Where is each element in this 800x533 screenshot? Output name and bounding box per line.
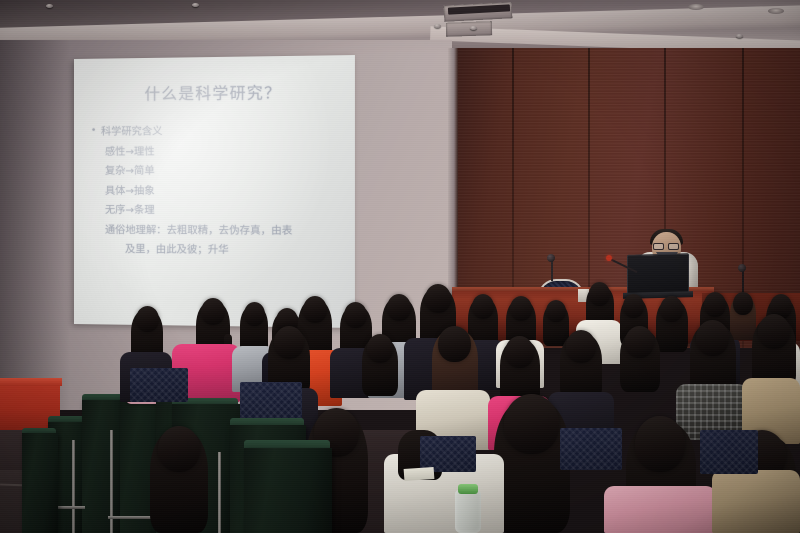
slide-line-1: 科学研究含义 xyxy=(91,121,345,142)
sprinkler-head-5 xyxy=(736,34,743,38)
audience-head xyxy=(387,294,411,321)
audience-head xyxy=(505,336,534,368)
audience-body-tan xyxy=(712,470,800,533)
stage-microphone-stand xyxy=(551,259,553,281)
audience-head xyxy=(696,320,729,356)
chair-leg xyxy=(72,440,75,533)
audience-head xyxy=(344,302,367,328)
microphone-icon xyxy=(547,254,555,262)
audience-head xyxy=(201,298,225,325)
slide-line-7: 及里，由此及彼；升华 xyxy=(91,240,345,261)
slide-title: 什么是科学研究？ xyxy=(74,80,355,105)
photo-scene: 什么是科学研究？ 科学研究含义 感性→理性 复杂→简单 具体→抽象 无序→条理 … xyxy=(0,0,800,533)
microphone-tip-light xyxy=(606,255,612,261)
audience-head xyxy=(425,284,451,313)
sprinkler-head-1 xyxy=(46,4,53,8)
sprinkler-head-3 xyxy=(434,24,441,28)
audience-head xyxy=(733,292,753,315)
chair-seat-pattern[interactable] xyxy=(560,428,622,470)
water-bottle[interactable] xyxy=(455,490,481,533)
projection-screen: 什么是科学研究？ 科学研究含义 感性→理性 复杂→简单 具体→抽象 无序→条理 … xyxy=(74,55,355,328)
chair-empty-4[interactable] xyxy=(22,433,58,533)
bottle-cap[interactable] xyxy=(458,484,478,494)
slide-line-2: 感性→理性 xyxy=(91,141,345,162)
audience-head xyxy=(623,294,644,318)
audience-head xyxy=(472,294,494,319)
stage-platform-left-top xyxy=(0,378,62,386)
audience-head xyxy=(367,334,393,363)
slide-line-4: 具体→抽象 xyxy=(91,181,345,201)
ceiling-downlight-2 xyxy=(768,8,784,14)
audience-head xyxy=(504,394,559,454)
slide-line-6: 通俗地理解：去粗取精，去伪存真，由表 xyxy=(91,221,345,242)
chair-row-near-1[interactable] xyxy=(244,448,332,533)
air-vent-grill-2 xyxy=(446,21,492,37)
chair-seat-pattern[interactable] xyxy=(240,382,302,422)
chair-leg xyxy=(218,452,221,533)
audience-head xyxy=(546,300,566,322)
audience-head xyxy=(244,302,265,326)
audience-head xyxy=(635,416,685,472)
audience-head xyxy=(704,292,726,317)
audience-head xyxy=(758,314,790,349)
audience-body-light-pink xyxy=(604,486,716,533)
speaker-glasses xyxy=(653,243,679,248)
laptop-screen xyxy=(627,253,689,297)
sprinkler-head-4 xyxy=(470,26,477,30)
audience-head xyxy=(660,296,683,322)
audience-head xyxy=(438,326,471,362)
audience-head xyxy=(625,326,654,358)
chair-seat-pattern[interactable] xyxy=(700,430,758,474)
paper-sheet[interactable] xyxy=(404,467,435,481)
slide-line-5: 无序→条理 xyxy=(91,201,345,221)
audience-head xyxy=(158,426,200,472)
audience-head xyxy=(510,296,532,321)
slide-body: 科学研究含义 感性→理性 复杂→简单 具体→抽象 无序→条理 通俗地理解：去粗取… xyxy=(91,121,345,261)
microphone-right-icon xyxy=(738,264,746,272)
audience-head xyxy=(274,326,304,359)
audience-head xyxy=(136,306,159,332)
audience-head xyxy=(589,282,610,306)
chair-seat-pattern[interactable] xyxy=(130,368,188,402)
sprinkler-head-2 xyxy=(192,3,199,7)
slide-line-3: 复杂→简单 xyxy=(91,161,345,181)
ceiling-downlight-1 xyxy=(688,4,704,10)
audience-head xyxy=(303,296,327,323)
audience-head xyxy=(566,330,596,363)
left-wall-shadow xyxy=(0,40,70,410)
